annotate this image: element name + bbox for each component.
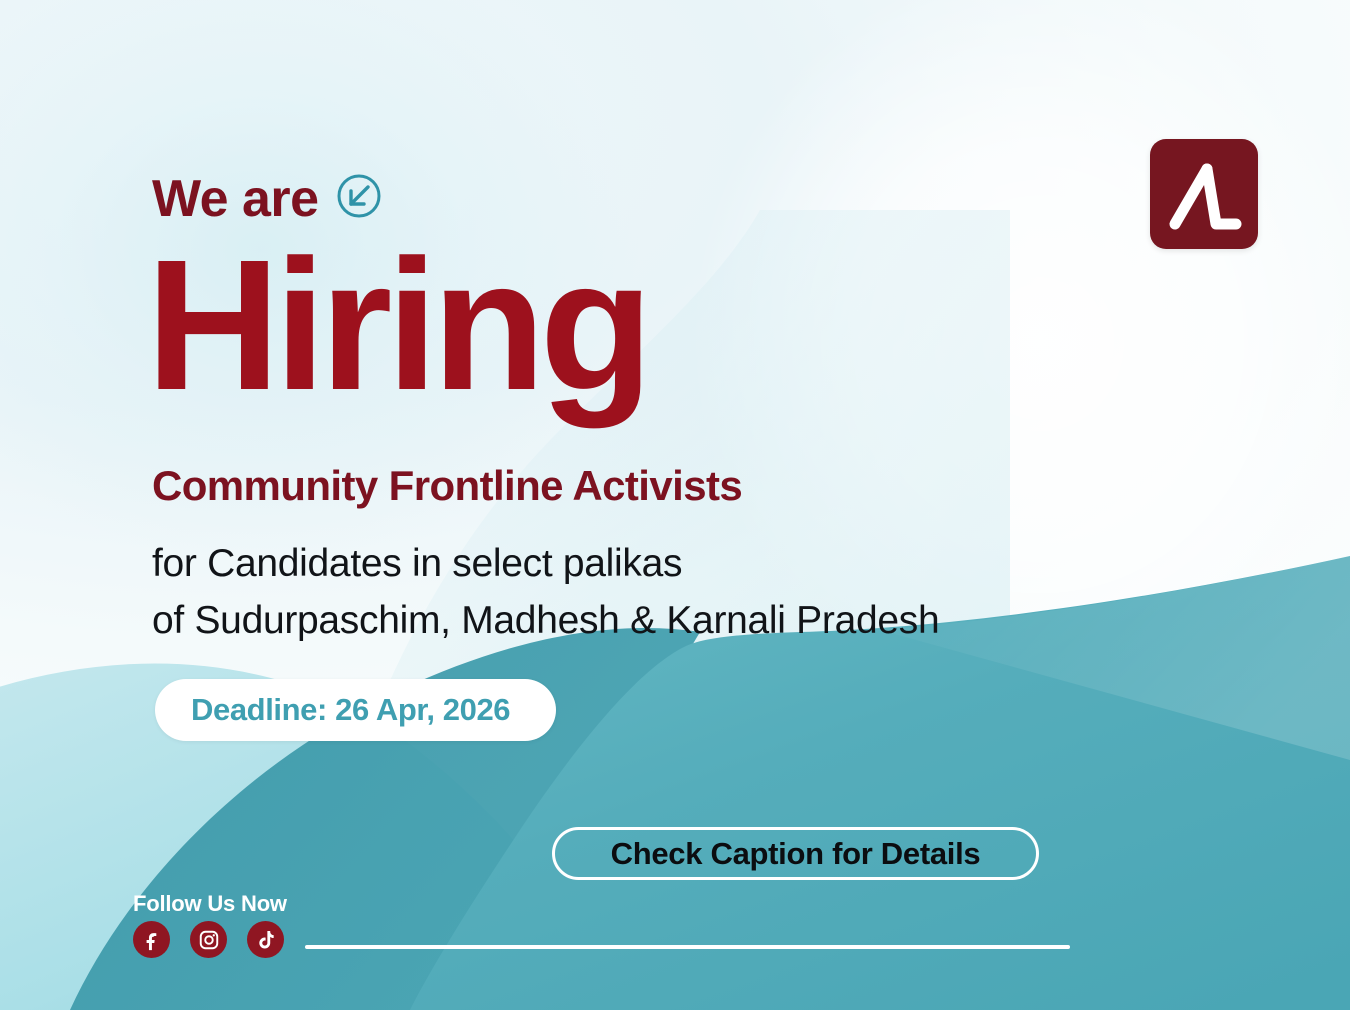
follow-us-label: Follow Us Now	[133, 891, 287, 917]
footer-divider	[305, 945, 1070, 949]
arrow-down-left-circle-icon	[335, 172, 383, 225]
facebook-icon	[141, 929, 163, 951]
page-title: Hiring	[146, 233, 647, 419]
brand-logo-icon	[1150, 139, 1258, 249]
facebook-link[interactable]	[133, 921, 170, 958]
job-description-line-1: for Candidates in select palikas	[152, 536, 939, 593]
poster-content: We are Hiring Community Frontline Activi…	[0, 0, 1350, 1010]
hiring-poster: We are Hiring Community Frontline Activi…	[0, 0, 1350, 1010]
brand-logo[interactable]	[1150, 139, 1258, 249]
job-description-line-2: of Sudurpaschim, Madhesh & Karnali Prade…	[152, 593, 939, 650]
job-description: for Candidates in select palikas of Sudu…	[152, 536, 939, 649]
tiktok-icon	[255, 929, 277, 951]
kicker-text: We are	[152, 173, 319, 225]
kicker-row: We are	[152, 172, 383, 225]
deadline-text: Deadline: 26 Apr, 2026	[191, 692, 510, 728]
instagram-icon	[198, 929, 220, 951]
deadline-badge: Deadline: 26 Apr, 2026	[155, 679, 556, 741]
job-role-title: Community Frontline Activists	[152, 463, 742, 509]
social-links	[133, 921, 284, 958]
instagram-link[interactable]	[190, 921, 227, 958]
check-caption-button-label: Check Caption for Details	[611, 836, 981, 872]
tiktok-link[interactable]	[247, 921, 284, 958]
check-caption-button[interactable]: Check Caption for Details	[552, 827, 1039, 880]
